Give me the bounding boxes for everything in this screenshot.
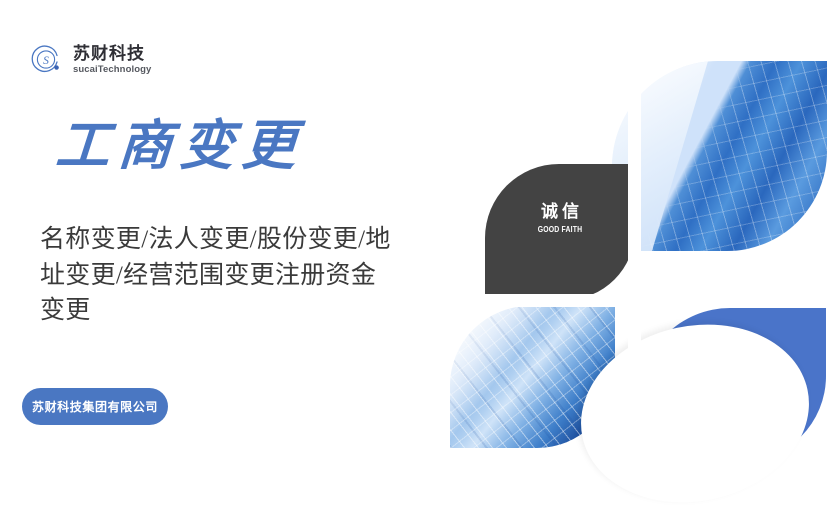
petal-photo-top-right [612,61,827,251]
page-title: 工商变更 [54,118,306,175]
glass-grid-texture [612,61,827,251]
circle-s-logo-icon: S [28,42,64,78]
pinwheel-graphic: 诚信 GOOD FAITH 科技 TECHNOLOGY [440,26,837,450]
brand-text: 苏财科技 sucaiTechnology [73,45,151,75]
company-cta-button[interactable]: 苏财科技集团有限公司 [22,388,168,425]
petal-good-faith [485,164,635,300]
svg-text:S: S [43,55,49,67]
slide-canvas: S 苏财科技 sucaiTechnology 工商变更 名称变更/法人变更/股份… [0,0,837,469]
left-content-column: S 苏财科技 sucaiTechnology 工商变更 名称变更/法人变更/股份… [0,0,440,469]
brand-lockup: S 苏财科技 sucaiTechnology [28,42,151,78]
center-divider-vertical [628,56,641,456]
brand-name-cn: 苏财科技 [73,45,151,62]
center-divider-horizontal [448,294,830,307]
brand-name-en: sucaiTechnology [73,65,151,75]
service-list-text: 名称变更/法人变更/股份变更/地址变更/经营范围变更注册资金变更 [40,222,400,329]
